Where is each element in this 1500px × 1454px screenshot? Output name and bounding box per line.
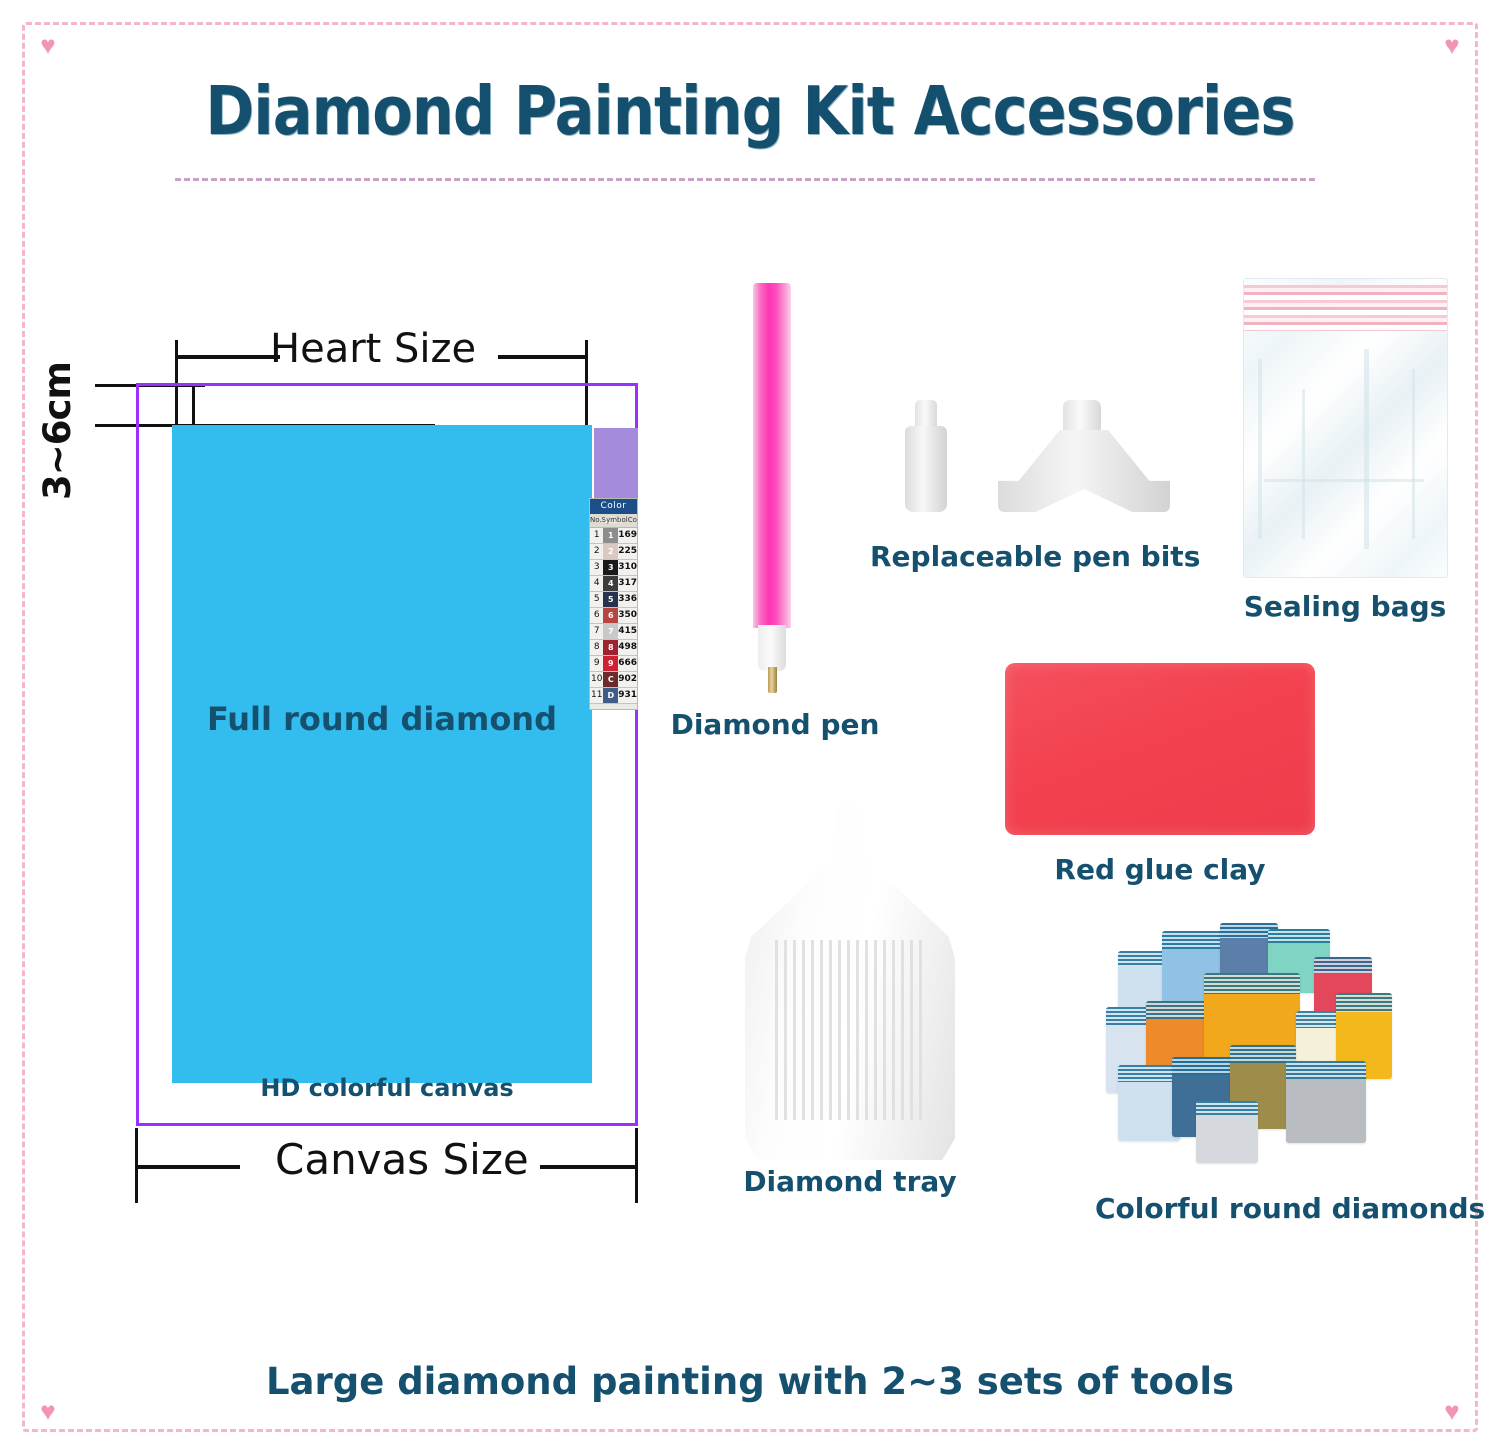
color-row-symbol: 4 <box>603 576 618 591</box>
pen-bits-caption: Replaceable pen bits <box>870 540 1180 573</box>
tray-ribs <box>775 940 925 1120</box>
pen-bit-body <box>905 426 947 512</box>
hd-canvas-caption: HD colorful canvas <box>136 1074 638 1102</box>
color-row-number: 8 <box>590 640 603 655</box>
red-glue-clay-caption: Red glue clay <box>1010 853 1310 886</box>
color-row-symbol: 1 <box>603 528 618 543</box>
pen-barrel <box>753 283 791 628</box>
diamond-pen-image <box>745 283 799 683</box>
color-row-code: 350 <box>618 608 637 623</box>
color-list-row: 88498 <box>590 640 637 656</box>
title-divider <box>175 178 1315 181</box>
color-row-symbol: D <box>603 688 618 703</box>
color-swatch-purple <box>594 428 638 498</box>
color-row-number: 1 <box>590 528 603 543</box>
pen-tip <box>768 667 777 693</box>
color-row-number: 6 <box>590 608 603 623</box>
color-row-code: 415 <box>618 624 637 639</box>
col-no: No. <box>590 514 602 527</box>
bag-crease <box>1364 349 1369 549</box>
bag-crease <box>1258 359 1262 539</box>
bead-packet <box>1286 1061 1366 1143</box>
sealing-bag-image <box>1243 278 1448 578</box>
canvas-size-arm-left <box>135 1165 240 1169</box>
diamond-pen-caption: Diamond pen <box>640 708 910 741</box>
color-row-code: 498 <box>618 640 637 655</box>
color-row-number: 3 <box>590 560 603 575</box>
heart-icon: ♥ <box>35 33 61 57</box>
full-round-diamond-label: Full round diamond <box>172 700 592 738</box>
infographic-page: ♥ ♥ ♥ ♥ Diamond Painting Kit Accessories… <box>0 0 1500 1454</box>
color-row-symbol: C <box>603 672 618 687</box>
color-list-row: 77415 <box>590 624 637 640</box>
color-row-symbol: 9 <box>603 656 618 671</box>
color-row-code: 931 <box>618 688 637 703</box>
diamond-tray-caption: Diamond tray <box>710 1165 990 1198</box>
col-color: Color <box>628 514 638 527</box>
pen-bit-single-image <box>905 400 947 512</box>
color-list-row: 22225 <box>590 544 637 560</box>
color-row-code: 336 <box>618 592 637 607</box>
color-row-symbol: 8 <box>603 640 618 655</box>
canvas-size-arm-right <box>540 1165 638 1169</box>
color-list-row: 33310 <box>590 560 637 576</box>
heart-icon: ♥ <box>1439 33 1465 57</box>
page-title: Diamond Painting Kit Accessories <box>90 72 1410 150</box>
color-row-number: 5 <box>590 592 603 607</box>
color-list-row: 11169 <box>590 528 637 544</box>
heart-size-label: Heart Size <box>270 326 476 372</box>
color-row-symbol: 5 <box>603 592 618 607</box>
color-list-row: 10C902 <box>590 672 637 688</box>
color-list-row: 11D931 <box>590 688 637 704</box>
color-list-body: 1116922225333104431755336663507741588498… <box>590 528 637 704</box>
color-row-number: 10 <box>590 672 603 687</box>
color-row-symbol: 3 <box>603 560 618 575</box>
color-row-code: 666 <box>618 656 637 671</box>
color-row-number: 4 <box>590 576 603 591</box>
color-row-code: 310 <box>618 560 637 575</box>
pen-bit-flare <box>998 430 1170 512</box>
color-row-number: 11 <box>590 688 603 703</box>
color-row-symbol: 2 <box>603 544 618 559</box>
col-sym: Symbol <box>602 514 628 527</box>
canvas-size-label: Canvas Size <box>275 1135 529 1184</box>
color-list-table: Color List No. Symbol Color 111692222533… <box>589 498 638 710</box>
pen-ferrule <box>758 625 786 671</box>
canvas-size-tick-right <box>635 1128 638 1203</box>
color-row-code: 225 <box>618 544 637 559</box>
pen-bit-multi-image <box>998 400 1170 512</box>
color-list-row: 44317 <box>590 576 637 592</box>
red-glue-clay-image <box>1005 663 1315 835</box>
colorful-diamonds-image <box>1100 915 1400 1185</box>
color-list-row: 55336 <box>590 592 637 608</box>
bead-packet <box>1196 1101 1258 1163</box>
color-row-number: 7 <box>590 624 603 639</box>
footer-tagline: Large diamond painting with 2~3 sets of … <box>0 1360 1500 1403</box>
heart-size-arm-left <box>175 355 280 359</box>
color-row-code: 902 <box>618 672 637 687</box>
color-row-number: 2 <box>590 544 603 559</box>
sealing-bags-caption: Sealing bags <box>1205 590 1485 623</box>
bag-crease <box>1412 369 1415 539</box>
color-row-code: 169 <box>618 528 637 543</box>
color-row-symbol: 6 <box>603 608 618 623</box>
color-list-title: Color List <box>590 499 637 514</box>
diamond-tray-image <box>745 800 955 1160</box>
bag-crease <box>1264 479 1424 482</box>
canvas-printed-area <box>172 425 592 1083</box>
color-row-code: 317 <box>618 576 637 591</box>
bag-crease <box>1302 389 1305 539</box>
color-list-row: 66350 <box>590 608 637 624</box>
colorful-diamonds-caption: Colorful round diamonds <box>1095 1192 1415 1225</box>
color-list-row: 99666 <box>590 656 637 672</box>
color-row-number: 9 <box>590 656 603 671</box>
heart-size-arm-right <box>498 355 588 359</box>
bead-packet <box>1118 1065 1180 1141</box>
bag-zipper <box>1244 285 1447 331</box>
color-row-symbol: 7 <box>603 624 618 639</box>
color-list-header-row: No. Symbol Color <box>590 514 637 528</box>
margin-dimension-label: 3~6cm <box>36 362 79 500</box>
